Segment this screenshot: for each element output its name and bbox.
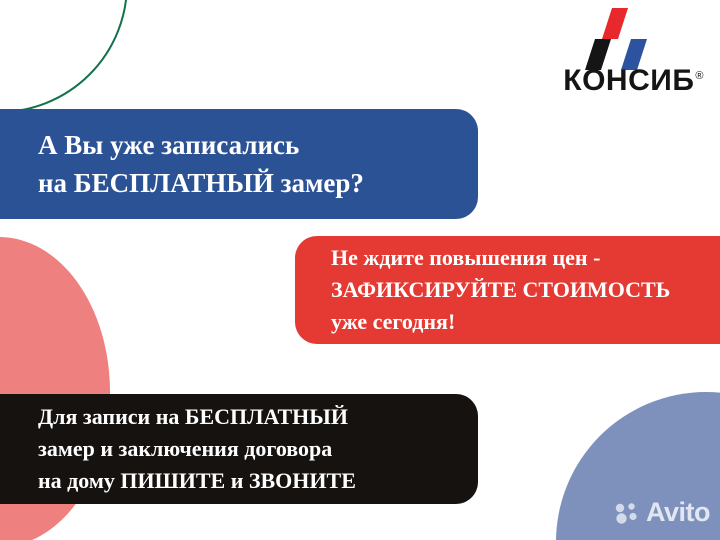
logo-wordmark-text: КОНСИБ	[563, 64, 694, 97]
banner-black-line-3: на дому ПИШИТЕ и ЗВОНИТЕ	[38, 465, 478, 497]
banner-red-line-2: ЗАФИКСИРУЙТЕ СТОИМОСТЬ	[331, 274, 720, 306]
banner-red-price-notice: Не ждите повышения цен - ЗАФИКСИРУЙТЕ СТ…	[295, 236, 720, 344]
avito-watermark: Avito	[615, 499, 710, 526]
banner-black-line-2: замер и заключения договора	[38, 433, 478, 465]
konsib-logo-mark-icon	[585, 8, 657, 70]
logo-wordmark: КОНСИБ®	[538, 66, 704, 96]
company-logo: КОНСИБ®	[538, 8, 704, 104]
banner-blue-line-2: на БЕСПЛАТНЫЙ замер?	[38, 164, 478, 202]
green-circle-outline-decoration	[0, 0, 128, 113]
registered-trademark-symbol: ®	[695, 70, 704, 82]
avito-logo-icon	[615, 502, 641, 524]
banner-blue-line-1: А Вы уже записались	[38, 126, 478, 164]
banner-red-line-1: Не ждите повышения цен -	[331, 242, 720, 274]
banner-red-line-3: уже сегодня!	[331, 306, 720, 338]
banner-black-line-1: Для записи на БЕСПЛАТНЫЙ	[38, 401, 478, 433]
banner-blue-headline: А Вы уже записались на БЕСПЛАТНЫЙ замер?	[0, 109, 478, 219]
banner-black-call-to-action: Для записи на БЕСПЛАТНЫЙ замер и заключе…	[0, 394, 478, 504]
avito-watermark-label: Avito	[646, 499, 710, 526]
promo-poster: КОНСИБ® А Вы уже записались на БЕСПЛАТНЫ…	[0, 0, 720, 540]
